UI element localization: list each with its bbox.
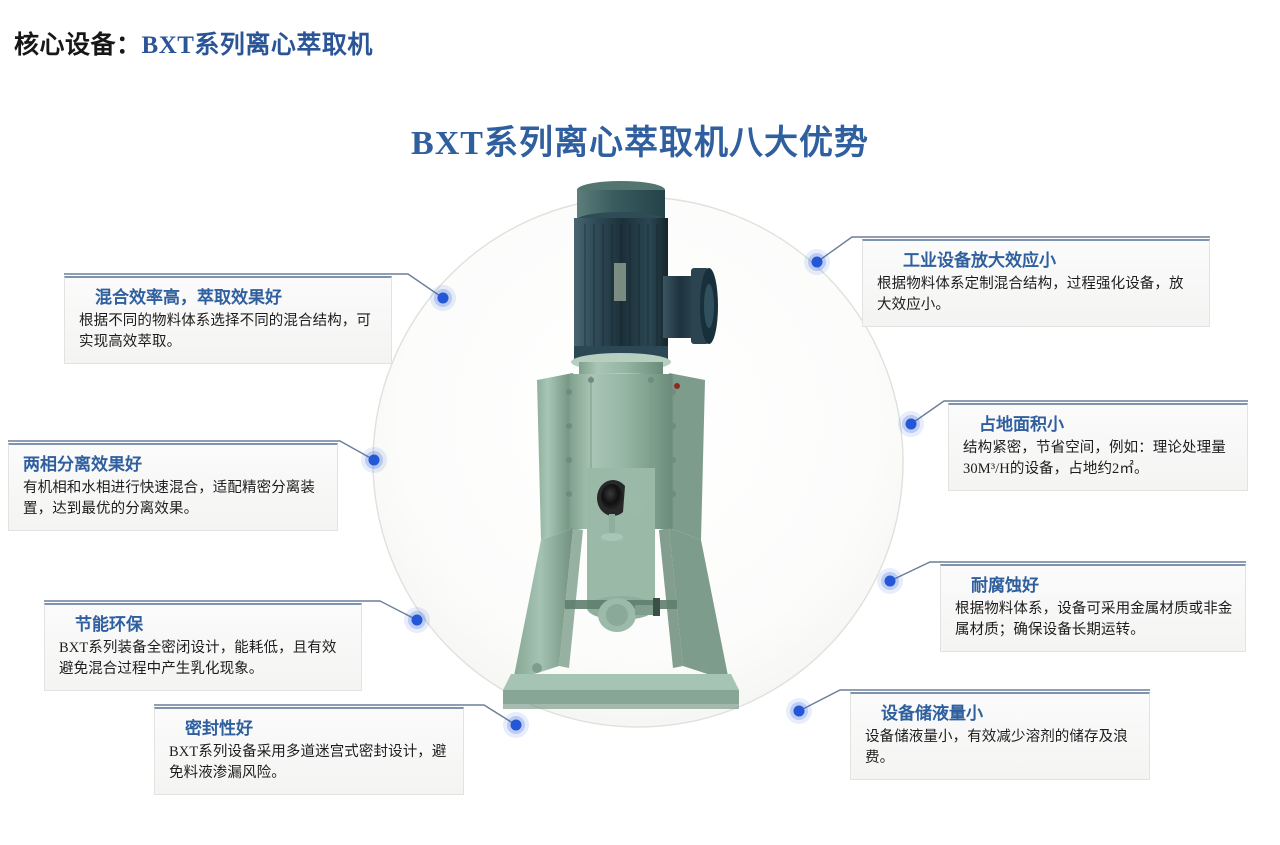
callout-title: 占地面积小	[963, 414, 1235, 435]
bottom-valve-face	[606, 604, 628, 626]
callout-corrosion-resistance[interactable]: 耐腐蚀好 根据物料体系，设备可采用金属材质或非金属材质；确保设备长期运转。	[940, 564, 1246, 652]
callout-footprint[interactable]: 占地面积小 结构紧密，节省空间，例如：理论处理量30M³/H的设备，占地约2㎡。	[948, 403, 1248, 491]
base-plate-shadow	[503, 704, 739, 709]
callout-energy-saving[interactable]: 节能环保 BXT系列装备全密闭设计，能耗低，且有效避免混合过程中产生乳化现象。	[44, 603, 362, 691]
callout-liquid-holdup[interactable]: 设备储液量小 设备储液量小，有效减少溶剂的储存及浪费。	[850, 692, 1150, 780]
callout-body: BXT系列设备采用多道迷宫式密封设计，避免料液渗漏风险。	[169, 742, 451, 783]
shell-left-panel	[537, 373, 573, 540]
base-plate-front	[503, 690, 739, 704]
shell-right-panel	[669, 373, 705, 540]
base-plate-top	[503, 674, 739, 690]
callout-body: 结构紧密，节省空间，例如：理论处理量30M³/H的设备，占地约2㎡。	[963, 438, 1235, 479]
slide-canvas: 核心设备：BXT系列离心萃取机 BXT系列离心萃取机八大优势	[0, 0, 1280, 845]
callout-phase-separation[interactable]: 两相分离效果好 有机相和水相进行快速混合，适配精密分离装置，达到最优的分离效果。	[8, 443, 338, 531]
callout-scale-up-effect[interactable]: 工业设备放大效应小 根据物料体系定制混合结构，过程强化设备，放大效应小。	[862, 239, 1210, 327]
callout-title: 节能环保	[59, 614, 349, 635]
callout-body: BXT系列装备全密闭设计，能耗低，且有效避免混合过程中产生乳化现象。	[59, 638, 349, 679]
motor-nameplate	[614, 263, 626, 301]
callout-mixing-efficiency[interactable]: 混合效率高，萃取效果好 根据不同的物料体系选择不同的混合结构，可实现高效萃取。	[64, 276, 392, 364]
callout-body: 根据物料体系定制混合结构，过程强化设备，放大效应小。	[877, 274, 1197, 315]
callout-sealing[interactable]: 密封性好 BXT系列设备采用多道迷宫式密封设计，避免料液渗漏风险。	[154, 707, 464, 795]
callout-body: 根据不同的物料体系选择不同的混合结构，可实现高效萃取。	[79, 311, 379, 352]
centrifugal-extractor-image	[495, 168, 780, 728]
feed-port-inner	[601, 484, 623, 510]
callout-title: 密封性好	[169, 718, 451, 739]
indicator-dot-red	[674, 383, 680, 389]
callout-title: 耐腐蚀好	[955, 575, 1233, 596]
callout-body: 有机相和水相进行快速混合，适配精密分离装置，达到最优的分离效果。	[23, 478, 325, 519]
gearbox-shaft-hole	[704, 284, 714, 328]
callout-body: 设备储液量小，有效减少溶剂的储存及浪费。	[865, 727, 1137, 768]
callout-title: 两相分离效果好	[23, 454, 325, 475]
callout-title: 设备储液量小	[865, 703, 1137, 724]
callout-body: 根据物料体系，设备可采用金属材质或非金属材质；确保设备长期运转。	[955, 599, 1233, 640]
callout-title: 混合效率高，萃取效果好	[79, 287, 379, 308]
callout-title: 工业设备放大效应小	[877, 250, 1197, 271]
feed-port-stem	[609, 514, 615, 536]
bottom-valve-stub-dark	[653, 598, 660, 616]
feed-port-stem-base	[601, 533, 623, 541]
